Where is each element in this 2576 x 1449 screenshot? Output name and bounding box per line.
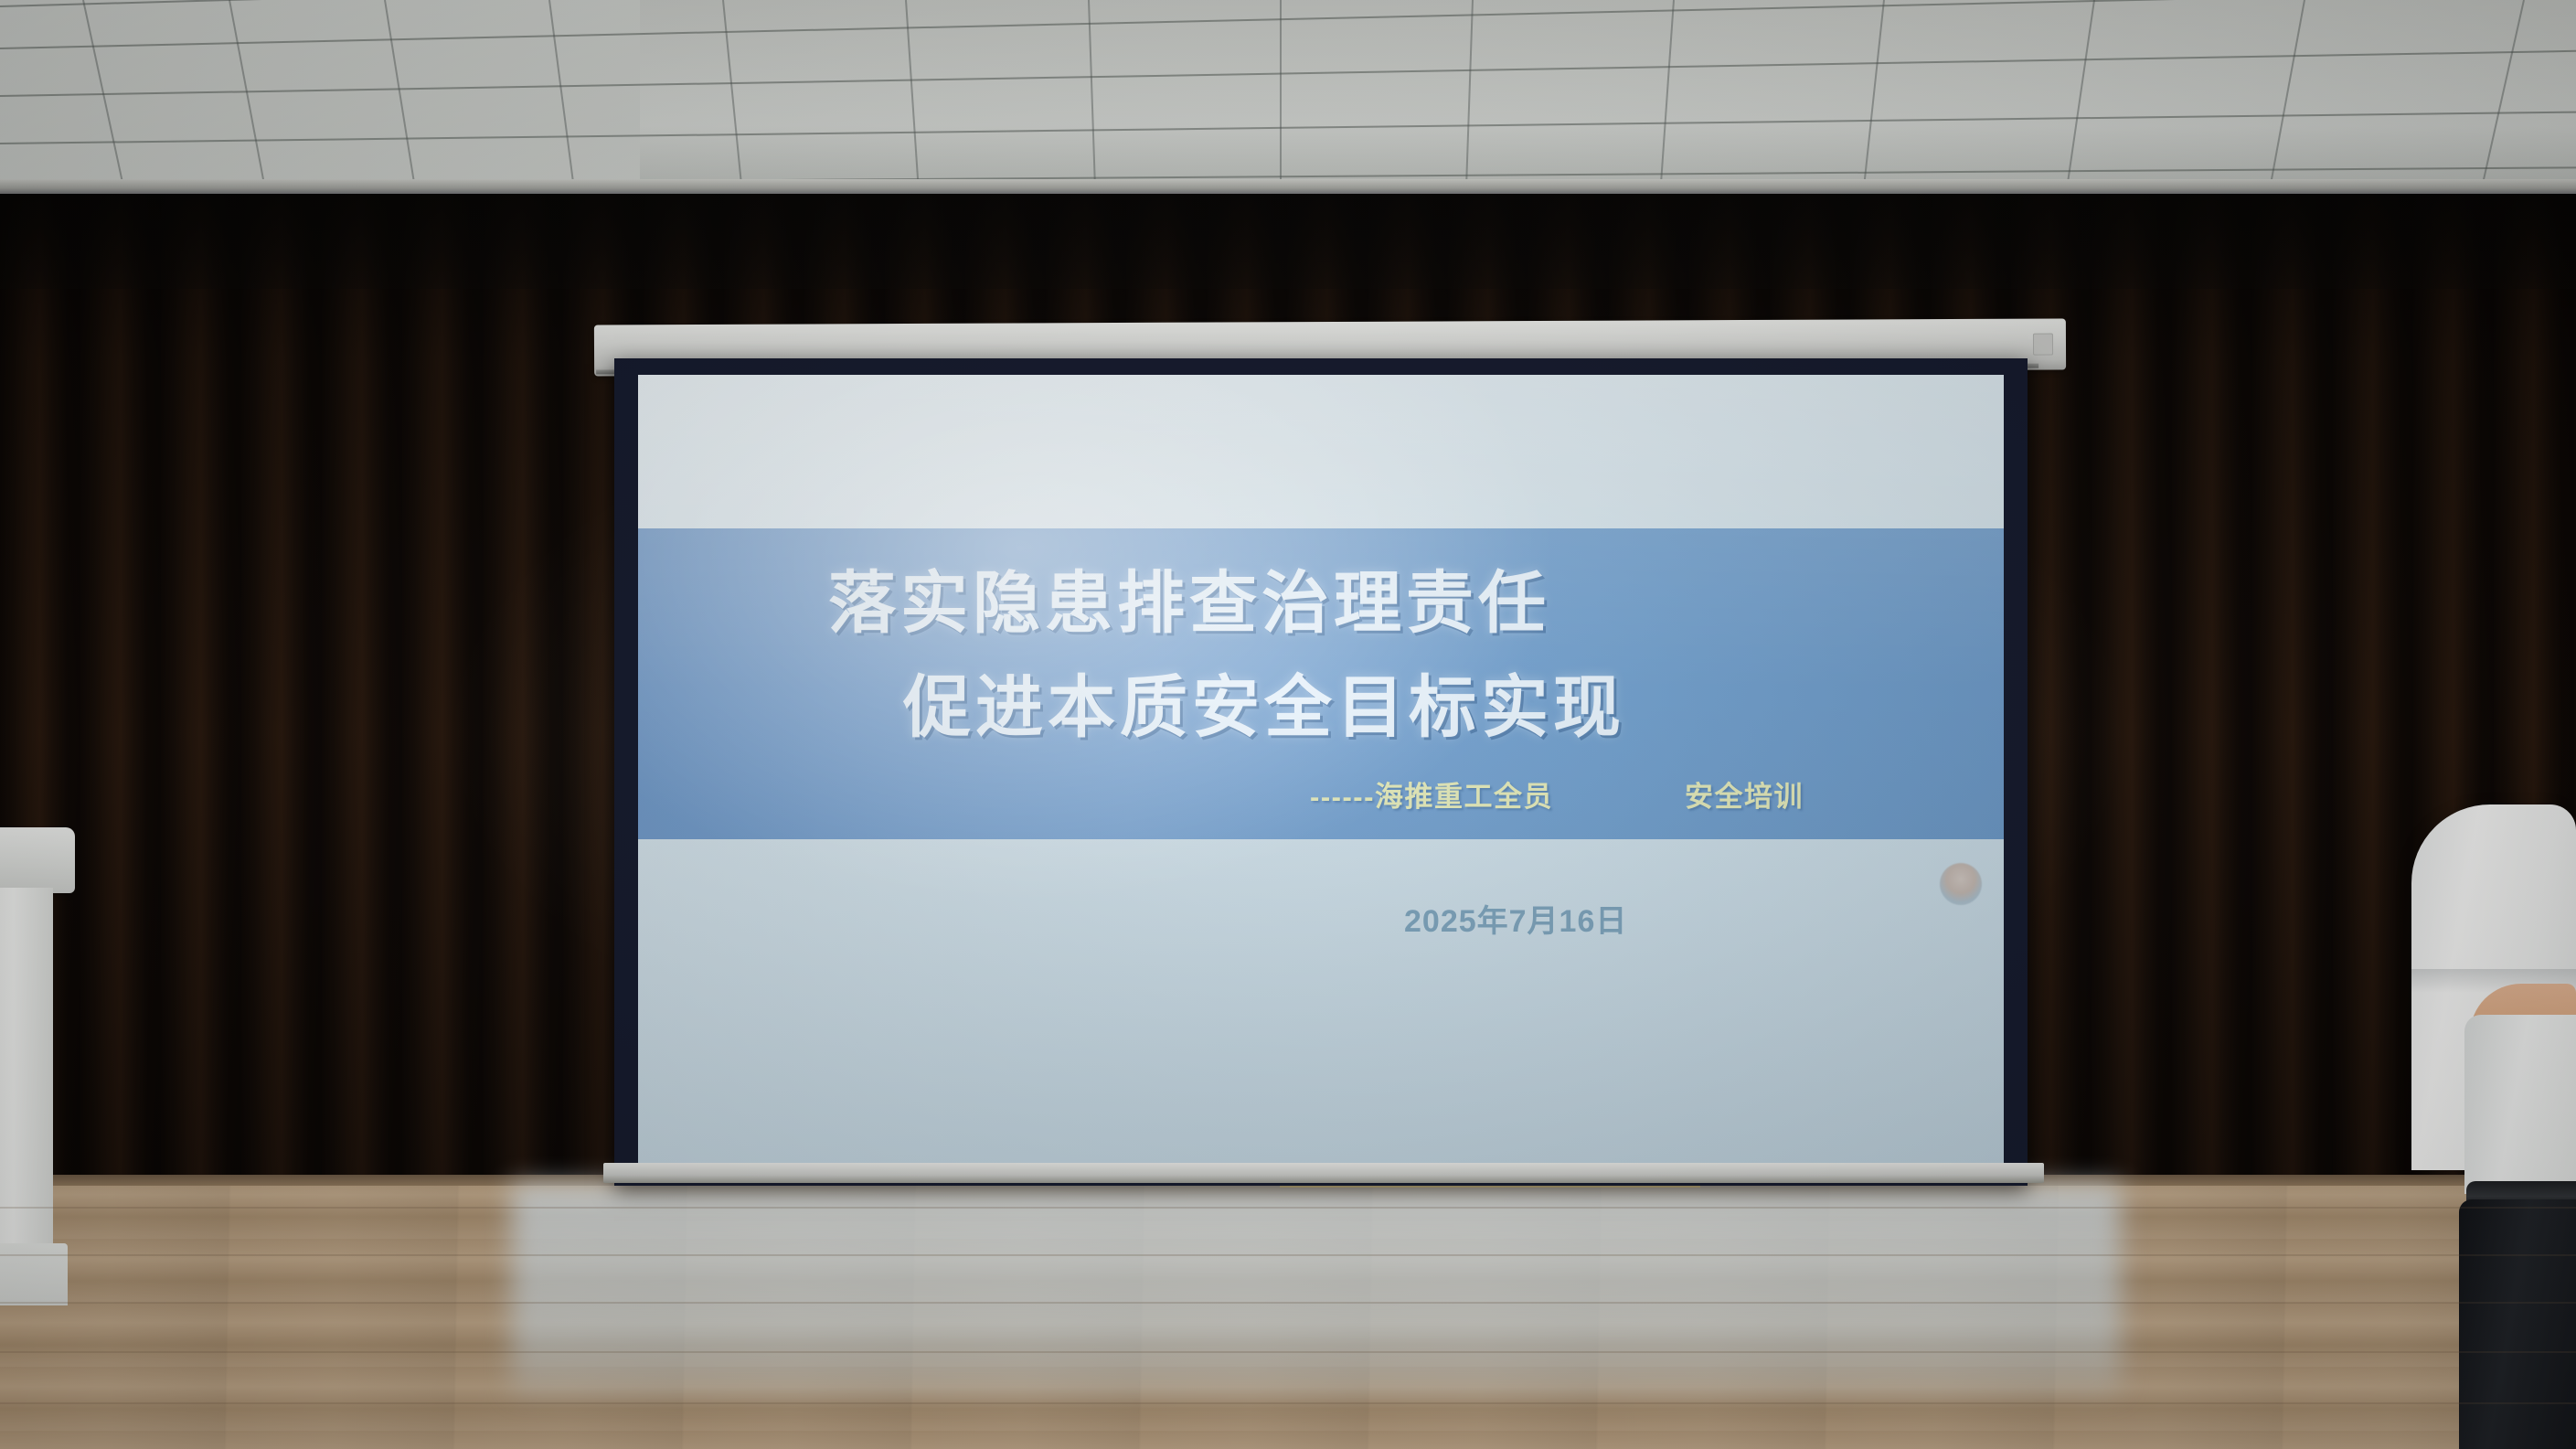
slide-title-line-1: 落实隐患排查治理责任: [828, 549, 1550, 646]
floor-plank-seam: [0, 1254, 2576, 1256]
person-trousers: [2459, 1199, 2576, 1449]
slide-subtitle-organization: ------海推重工全员: [1310, 773, 1553, 815]
slide-avatar-watermark: [1940, 863, 1982, 905]
presentation-room-photo: 落实隐患排查治理责任 促进本质安全目标实现 ------海推重工全员 安全培训 …: [0, 0, 2576, 1449]
floor-plank-seam: [0, 1302, 2576, 1304]
curtain-rail: [0, 179, 2576, 194]
slide-title-line-2: 促进本质安全目标实现: [903, 653, 1625, 751]
slide-subtitle-topic: 安全培训: [1685, 773, 1804, 815]
presentation-slide: 落实隐患排查治理责任 促进本质安全目标实现 ------海推重工全员 安全培训 …: [638, 375, 2004, 1163]
lectern-base: [0, 1243, 68, 1305]
projector-light-spill-on-floor: [512, 1184, 2121, 1394]
floor-plank-seam: [0, 1207, 2576, 1209]
slide-title-band: 落实隐患排查治理责任 促进本质安全目标实现 ------海推重工全员 安全培训: [638, 528, 2004, 839]
lectern-top: [0, 827, 75, 893]
floor-plank-seam: [0, 1402, 2576, 1404]
person-shirt-lower: [2464, 1015, 2576, 1194]
lectern-column: [0, 888, 53, 1253]
projector-screen: 落实隐患排查治理责任 促进本质安全目标实现 ------海推重工全员 安全培训 …: [614, 358, 2028, 1186]
slide-date: 2025年7月16日: [1404, 896, 1627, 941]
floor-plank-seam: [0, 1351, 2576, 1353]
screen-housing-endcap: [2033, 334, 2053, 356]
slide-subtitle-row: ------海推重工全员 安全培训: [638, 773, 2004, 817]
projector-screen-bottom-bar: [603, 1163, 2044, 1183]
lectern: [0, 827, 75, 1303]
